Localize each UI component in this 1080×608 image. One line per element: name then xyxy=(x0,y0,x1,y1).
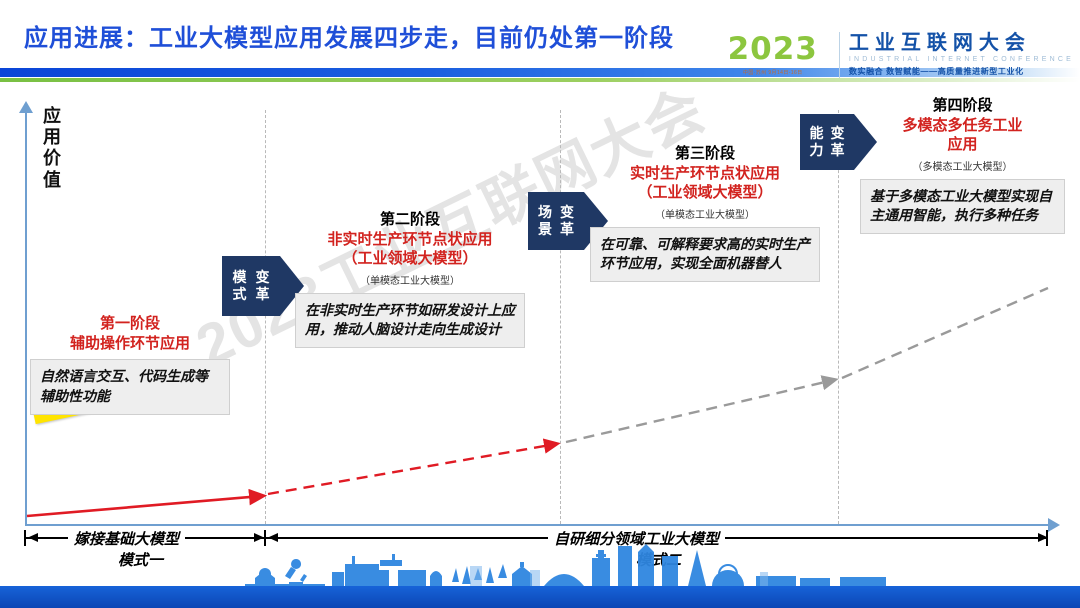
logo-year: 2023 xyxy=(728,34,818,65)
page-title: 应用进展：工业大模型应用发展四步走，目前仍处第一阶段 xyxy=(24,18,674,53)
trend-dashed-grey xyxy=(566,380,834,442)
phase-3-title: 实时生产环节点状应用 xyxy=(590,164,820,184)
phase-divider-2 xyxy=(560,110,561,524)
logo-year-block: 2023 中国·苏州 9月14日-16日 xyxy=(728,34,830,76)
phase-1-description: 自然语言交互、代码生成等辅助性功能 xyxy=(30,359,230,415)
city-skyline-graphic xyxy=(0,542,1080,588)
arrow-2-line1: 场景 xyxy=(534,204,556,238)
phase-2-number: 第二阶段 xyxy=(295,210,525,230)
phase-3-title2: （工业领域大模型） xyxy=(590,183,820,203)
trend-dashed-red xyxy=(268,444,556,494)
phase-4-title: 多模态多任务工业 xyxy=(860,116,1065,136)
logo-conference-cn: 工业互联网大会 xyxy=(849,33,1074,54)
transition-arrow-2-label: 场景 变革 xyxy=(528,192,584,250)
arrow-3-line1: 能力 xyxy=(806,125,827,159)
phase-3-number: 第三阶段 xyxy=(590,144,820,164)
transition-arrow-2: 场景 变革 xyxy=(528,192,584,250)
phase-1-title: 辅助操作环节应用 xyxy=(30,334,230,354)
phase-2-title: 非实时生产环节点状应用 xyxy=(295,230,525,250)
arrow-2-line2: 变革 xyxy=(556,204,578,238)
transition-arrow-3-label: 能力 变革 xyxy=(800,114,854,170)
phase-4-number: 第四阶段 xyxy=(860,96,1065,116)
logo-slogan: 数实融合 数智赋能——高质量推进新型工业化 xyxy=(849,66,1074,77)
arrow-3-line2: 变革 xyxy=(827,125,848,159)
logo-place-date: 中国·苏州 9月14日-16日 xyxy=(728,69,818,76)
y-axis-label: 应用价值 xyxy=(40,106,64,191)
chart-area: 2023工业互联网大会 应用价值 当前阶段 第一阶段 辅助操作环节应用 自然语言… xyxy=(0,92,1080,608)
phase-divider-3 xyxy=(838,110,839,524)
y-axis-line xyxy=(25,110,27,525)
logo-divider xyxy=(839,32,840,78)
transition-arrow-1-label: 模式 变革 xyxy=(222,256,280,316)
conference-logo: 2023 中国·苏州 9月14日-16日 工业互联网大会 INDUSTRIAL … xyxy=(728,26,1074,84)
arrow-1-line2: 变革 xyxy=(251,269,274,303)
transition-arrow-1: 模式 变革 xyxy=(222,256,280,316)
phase-4-subtitle: （多模态工业大模型） xyxy=(860,158,1065,173)
phase-divider-1 xyxy=(265,110,266,524)
x-axis-line xyxy=(25,524,1050,526)
phase-block-1[interactable]: 第一阶段 辅助操作环节应用 自然语言交互、代码生成等辅助性功能 xyxy=(30,314,230,415)
phase-block-3[interactable]: 第三阶段 实时生产环节点状应用 （工业领域大模型） （单模态工业大模型） 在可靠… xyxy=(590,144,820,282)
phase-1-number: 第一阶段 xyxy=(30,314,230,334)
phase-3-subtitle: （单模态工业大模型） xyxy=(590,206,820,221)
phase-2-subtitle: （单模态工业大模型） xyxy=(295,272,525,287)
logo-text-block: 工业互联网大会 INDUSTRIAL INTERNET CONFERENCE 数… xyxy=(849,33,1074,77)
phase-4-title2: 应用 xyxy=(860,135,1065,155)
phase-4-description: 基于多模态工业大模型实现自主通用智能，执行多种任务 xyxy=(860,179,1065,235)
phase-3-description: 在可靠、可解释要求高的实时生产环节应用，实现全面机器替人 xyxy=(590,227,820,283)
phase-2-description: 在非实时生产环节如研发设计上应用，推动人脑设计走向生成设计 xyxy=(295,293,525,349)
transition-arrow-3: 能力 变革 xyxy=(800,114,854,170)
trend-solid-red xyxy=(27,496,262,516)
footer-blue-band xyxy=(0,586,1080,608)
phase-block-4[interactable]: 第四阶段 多模态多任务工业 应用 （多模态工业大模型） 基于多模态工业大模型实现… xyxy=(860,96,1065,234)
phase-block-2[interactable]: 第二阶段 非实时生产环节点状应用 （工业领域大模型） （单模态工业大模型） 在非… xyxy=(295,210,525,348)
phase-2-title2: （工业领域大模型） xyxy=(295,249,525,269)
logo-conference-en: INDUSTRIAL INTERNET CONFERENCE xyxy=(849,56,1074,63)
trend-dashed-grey-2 xyxy=(842,288,1048,378)
slide-header: 应用进展：工业大模型应用发展四步走，目前仍处第一阶段 2023 中国·苏州 9月… xyxy=(0,0,1080,92)
arrow-1-line1: 模式 xyxy=(228,269,251,303)
